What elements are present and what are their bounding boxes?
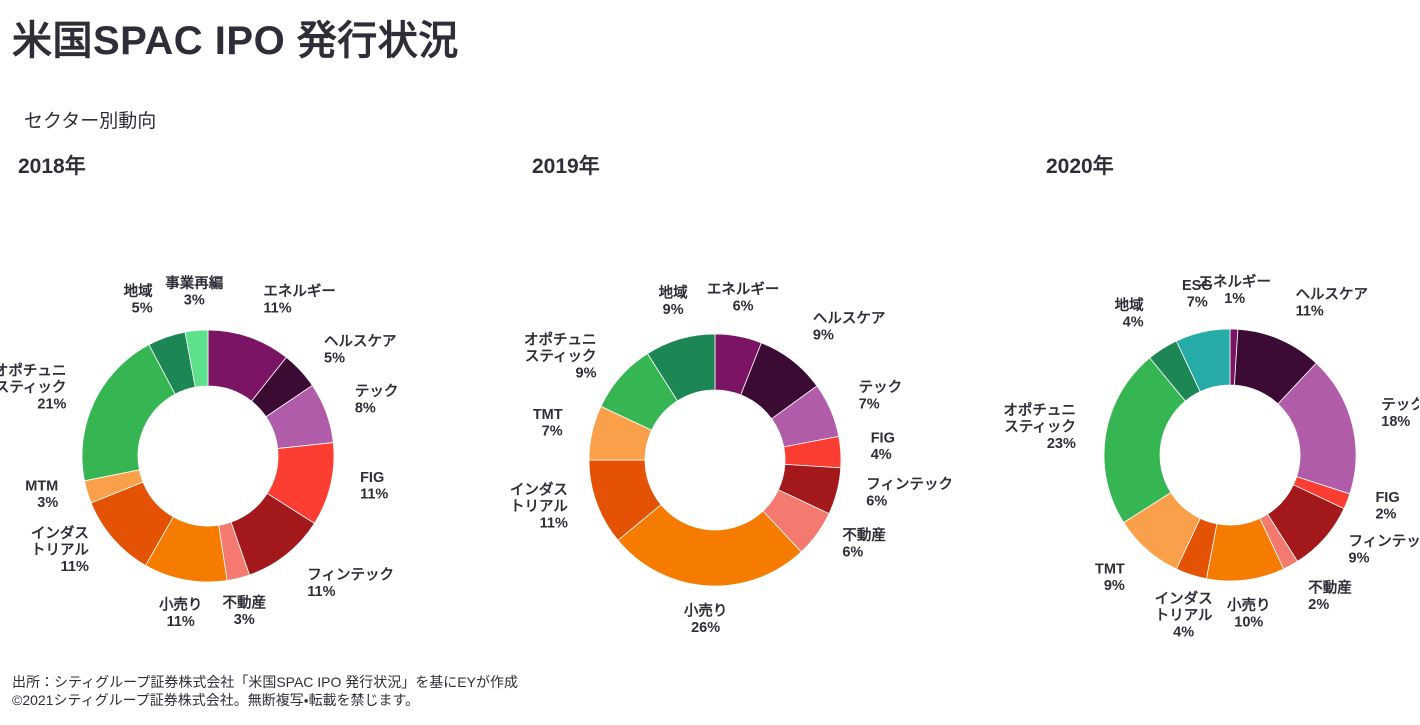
- footer-line-copyright: ©2021シティグループ証券株式会社。無断複写・転載を禁じます。: [12, 691, 518, 709]
- pie-slice-label: 地域5%: [124, 282, 153, 317]
- pie-slice-label: 不動産3%: [222, 594, 266, 629]
- pie-slice-label: TMT7%: [533, 407, 563, 440]
- donut-chart-2019: エネルギー6%ヘルスケア9%テック7%FIG4%フィンテック6%不動産6%小売り…: [478, 195, 951, 655]
- pie-slice-label: エネルギー6%: [707, 281, 780, 315]
- pie-slice-label: オポチュニスティック9%: [524, 330, 597, 381]
- pie-slice-label: MTM3%: [25, 479, 58, 512]
- pie-slice-label: 地域9%: [659, 283, 688, 318]
- donut-slices: [589, 334, 841, 586]
- source-footer: 出所：シティグループ証券株式会社「米国SPAC IPO 発行状況」を基にEYが作…: [12, 673, 518, 710]
- donut-svg: エネルギー6%ヘルスケア9%テック7%FIG4%フィンテック6%不動産6%小売り…: [478, 195, 951, 655]
- page-subtitle: セクター別動向: [24, 106, 156, 133]
- pie-slice-label: TMT9%: [1095, 562, 1125, 595]
- pie-slice-label: オポチュニスティック21%: [0, 361, 67, 412]
- pie-slice-label: ヘルスケア9%: [813, 310, 886, 344]
- page-title: 米国SPAC IPO 発行状況: [12, 8, 459, 66]
- pie-slice-label: 小売り11%: [159, 595, 203, 630]
- donut-labels: エネルギー1%ヘルスケア11%テック18%FIG2%フィンテック9%不動産2%小…: [1003, 274, 1419, 641]
- pie-slice-label: テック7%: [859, 379, 903, 413]
- donut-slices: [1104, 329, 1356, 581]
- pie-slice-label: ヘルスケア5%: [324, 333, 397, 367]
- donut-chart-2018: エネルギー11%ヘルスケア5%テック8%FIG11%フィンテック11%不動産3%…: [0, 195, 473, 655]
- donut-slices: [82, 330, 334, 582]
- pie-slice-label: インダストリアル11%: [510, 480, 568, 531]
- pie-slice-label: 小売り26%: [684, 602, 728, 637]
- pie-slice-label: 小売り10%: [1227, 596, 1271, 631]
- donut-svg: エネルギー1%ヘルスケア11%テック18%FIG2%フィンテック9%不動産2%小…: [946, 195, 1419, 655]
- pie-slice-label: インダストリアル11%: [31, 524, 89, 575]
- pie-slice-label: フィンテック6%: [866, 476, 951, 510]
- pie-slice-label: ヘルスケア11%: [1296, 286, 1369, 320]
- chart-title-2019: 2019年: [532, 150, 600, 180]
- pie-slice-label: フィンテック9%: [1349, 533, 1419, 567]
- pie-slice-label: 不動産6%: [842, 526, 886, 561]
- pie-slice-label: テック18%: [1381, 396, 1419, 430]
- chart-title-2018: 2018年: [18, 150, 86, 180]
- donut-svg: エネルギー11%ヘルスケア5%テック8%FIG11%フィンテック11%不動産3%…: [0, 195, 473, 655]
- pie-slice-label: オポチュニスティック23%: [1003, 401, 1076, 452]
- chart-title-2020: 2020年: [1046, 150, 1114, 180]
- donut-chart-2020: エネルギー1%ヘルスケア11%テック18%FIG2%フィンテック9%不動産2%小…: [946, 195, 1419, 655]
- pie-slice-label: FIG4%: [871, 430, 895, 463]
- footer-line-source: 出所：シティグループ証券株式会社「米国SPAC IPO 発行状況」を基にEYが作…: [12, 673, 518, 691]
- pie-slice-label: 不動産2%: [1308, 578, 1352, 613]
- pie-slice-label: エネルギー11%: [263, 283, 336, 317]
- pie-slice-label: ESG7%: [1182, 278, 1213, 311]
- pie-slice-label: フィンテック11%: [307, 566, 394, 600]
- pie-slice-label: 地域4%: [1115, 296, 1144, 331]
- pie-slice-label: テック8%: [355, 383, 399, 417]
- pie-slice-label: インダストリアル4%: [1155, 590, 1213, 641]
- pie-slice-label: FIG2%: [1375, 490, 1399, 523]
- pie-slice-label: FIG11%: [360, 470, 388, 503]
- pie-slice-label: 事業再編3%: [165, 274, 223, 309]
